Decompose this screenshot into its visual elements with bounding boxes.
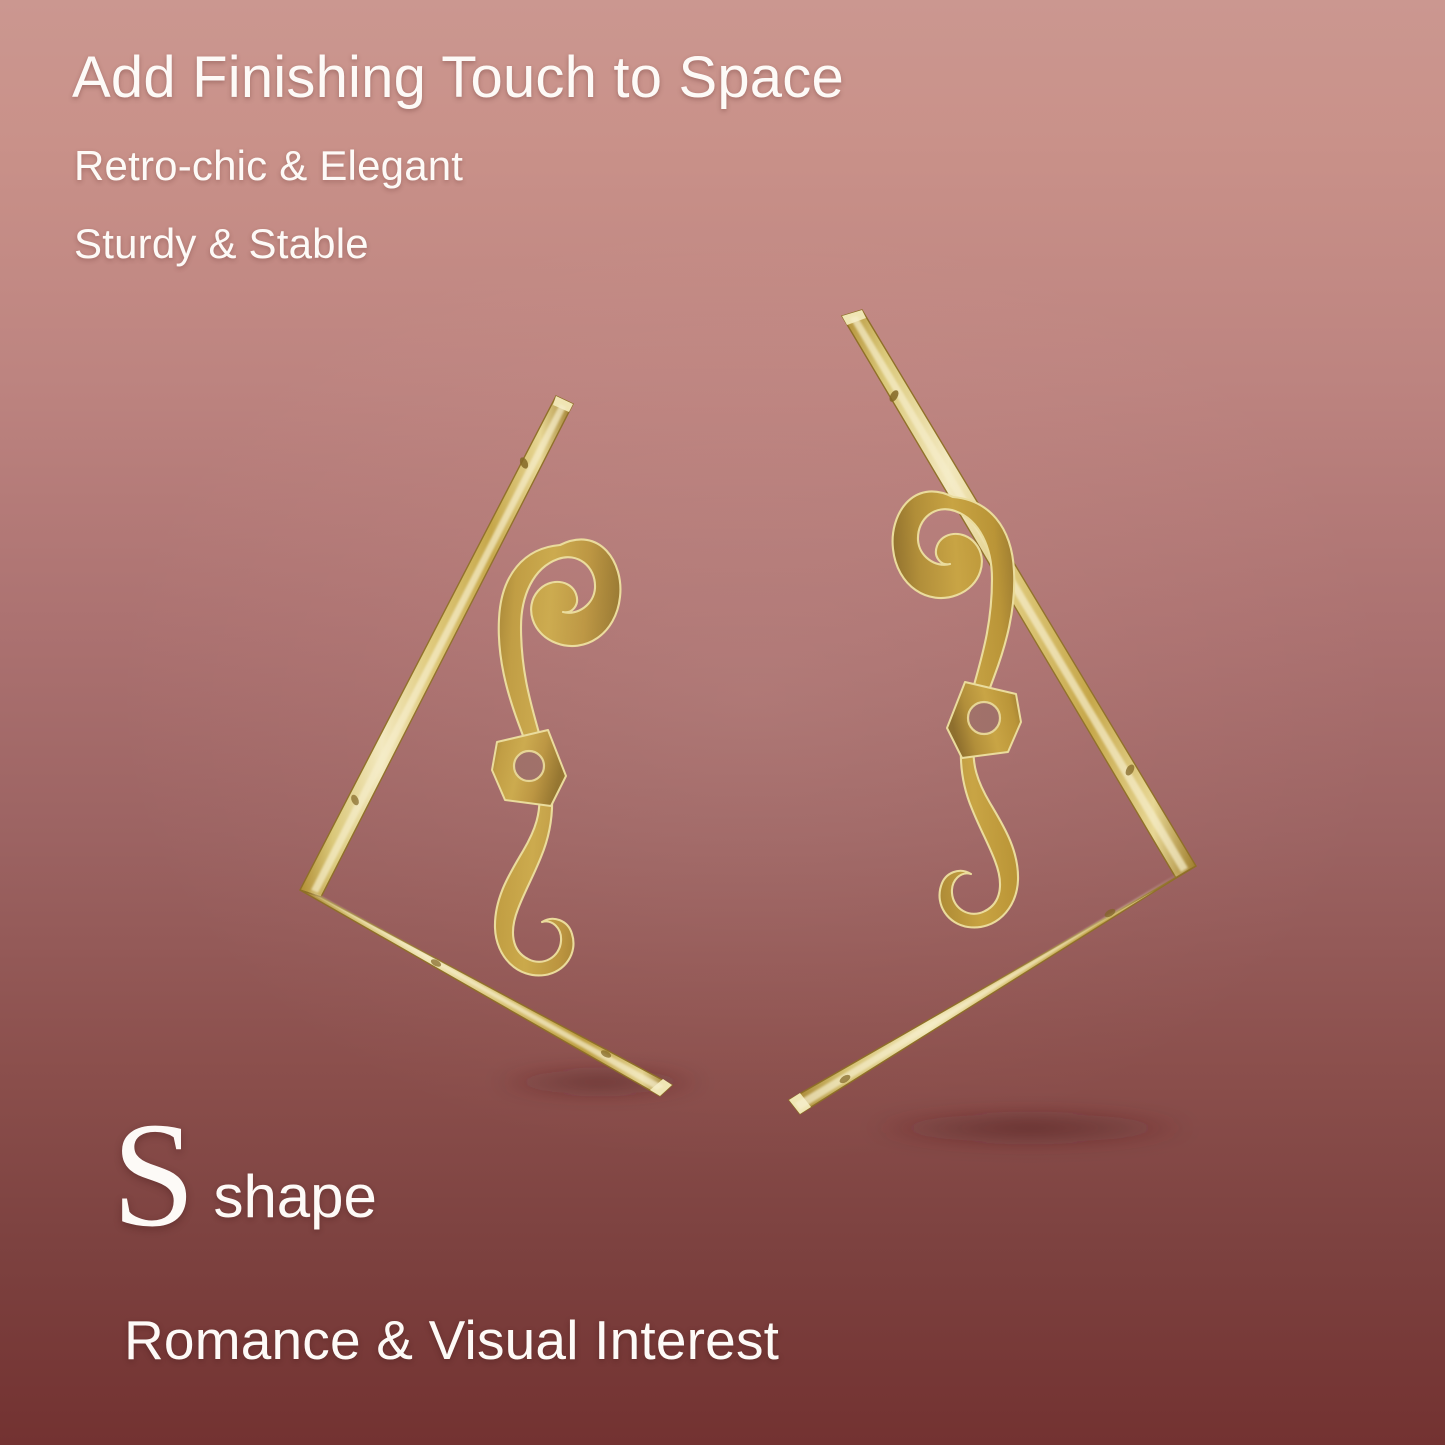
left-bracket-shelf-arm bbox=[300, 890, 672, 1096]
right-bracket-wall-arm bbox=[842, 310, 1196, 878]
screw-hole bbox=[968, 702, 1000, 734]
shape-lockup: S shape bbox=[112, 1112, 377, 1239]
right-bracket bbox=[789, 310, 1196, 1114]
shelf-arm-specular bbox=[308, 891, 664, 1090]
left-bracket-s-scroll bbox=[492, 539, 620, 975]
right-bracket-s-scroll bbox=[893, 491, 1021, 927]
right-bracket-shelf-arm bbox=[789, 866, 1196, 1114]
screw-hole bbox=[514, 751, 544, 781]
product-feature-image: Add Finishing Touch to Space Retro-chic … bbox=[0, 0, 1445, 1445]
left-bracket-shadow bbox=[492, 1067, 708, 1097]
shape-word: shape bbox=[213, 1162, 376, 1231]
wall-arm-specular bbox=[850, 316, 1188, 872]
tagline: Romance & Visual Interest bbox=[124, 1308, 779, 1372]
shelf-arm-specular bbox=[795, 868, 1188, 1110]
wall-arm-specular bbox=[311, 404, 566, 893]
left-bracket bbox=[300, 396, 672, 1096]
right-bracket-shadow bbox=[865, 1110, 1195, 1146]
shape-letter: S bbox=[112, 1112, 195, 1238]
left-bracket-wall-arm bbox=[300, 396, 573, 897]
